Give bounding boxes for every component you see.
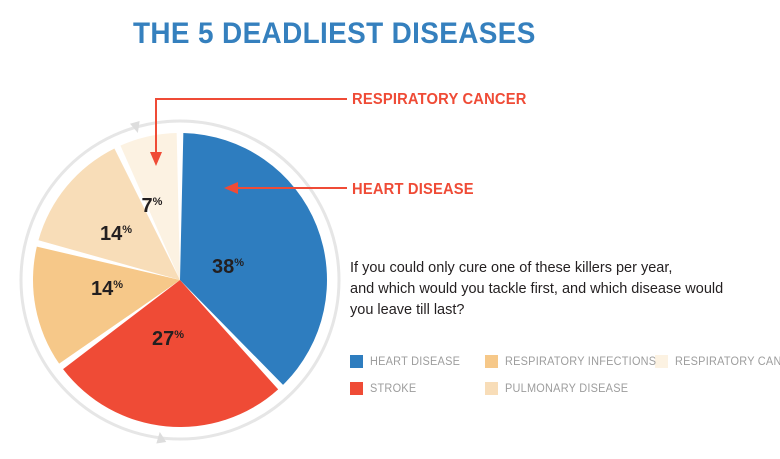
legend-item-respiratory-infections[interactable]: RESPIRATORY INFECTIONS: [485, 355, 655, 368]
legend-swatch-stroke: [350, 382, 363, 395]
description-text: If you could only cure one of these kill…: [350, 258, 774, 321]
pie-slices: [33, 133, 327, 427]
legend-swatch-respiratory-cancer: [655, 355, 668, 368]
infographic-canvas: THE 5 DEADLIEST DISEASES 38%27%14%14%7%: [0, 0, 780, 459]
callout-label-respiratory-cancer: RESPIRATORY CANCER: [352, 91, 527, 109]
legend-swatch-pulmonary-disease: [485, 382, 498, 395]
legend-swatch-respiratory-infections: [485, 355, 498, 368]
legend-label: HEART DISEASE: [370, 356, 460, 368]
description-line-3: you leave till last?: [350, 300, 774, 321]
legend-label: RESPIRATORY CANCER: [675, 356, 780, 368]
legend-item-heart-disease[interactable]: HEART DISEASE: [350, 355, 485, 368]
legend-item-pulmonary-disease[interactable]: PULMONARY DISEASE: [485, 382, 655, 395]
legend-label: RESPIRATORY INFECTIONS: [505, 356, 656, 368]
description-panel: If you could only cure one of these kill…: [350, 258, 774, 321]
pie-chart-svg: 38%27%14%14%7%: [0, 70, 360, 459]
description-line-1: If you could only cure one of these kill…: [350, 258, 774, 279]
callout-label-heart-disease: HEART DISEASE: [352, 181, 474, 199]
legend-item-stroke[interactable]: STROKE: [350, 382, 485, 395]
page-title: THE 5 DEADLIEST DISEASES: [133, 17, 536, 51]
chart-legend: HEART DISEASERESPIRATORY INFECTIONSRESPI…: [350, 348, 780, 402]
pie-chart: 38%27%14%14%7%: [0, 70, 360, 459]
legend-label: STROKE: [370, 383, 416, 395]
legend-label: PULMONARY DISEASE: [505, 383, 628, 395]
description-line-2: and which would you tackle first, and wh…: [350, 279, 774, 300]
legend-swatch-heart-disease: [350, 355, 363, 368]
legend-item-respiratory-cancer[interactable]: RESPIRATORY CANCER: [655, 355, 780, 368]
